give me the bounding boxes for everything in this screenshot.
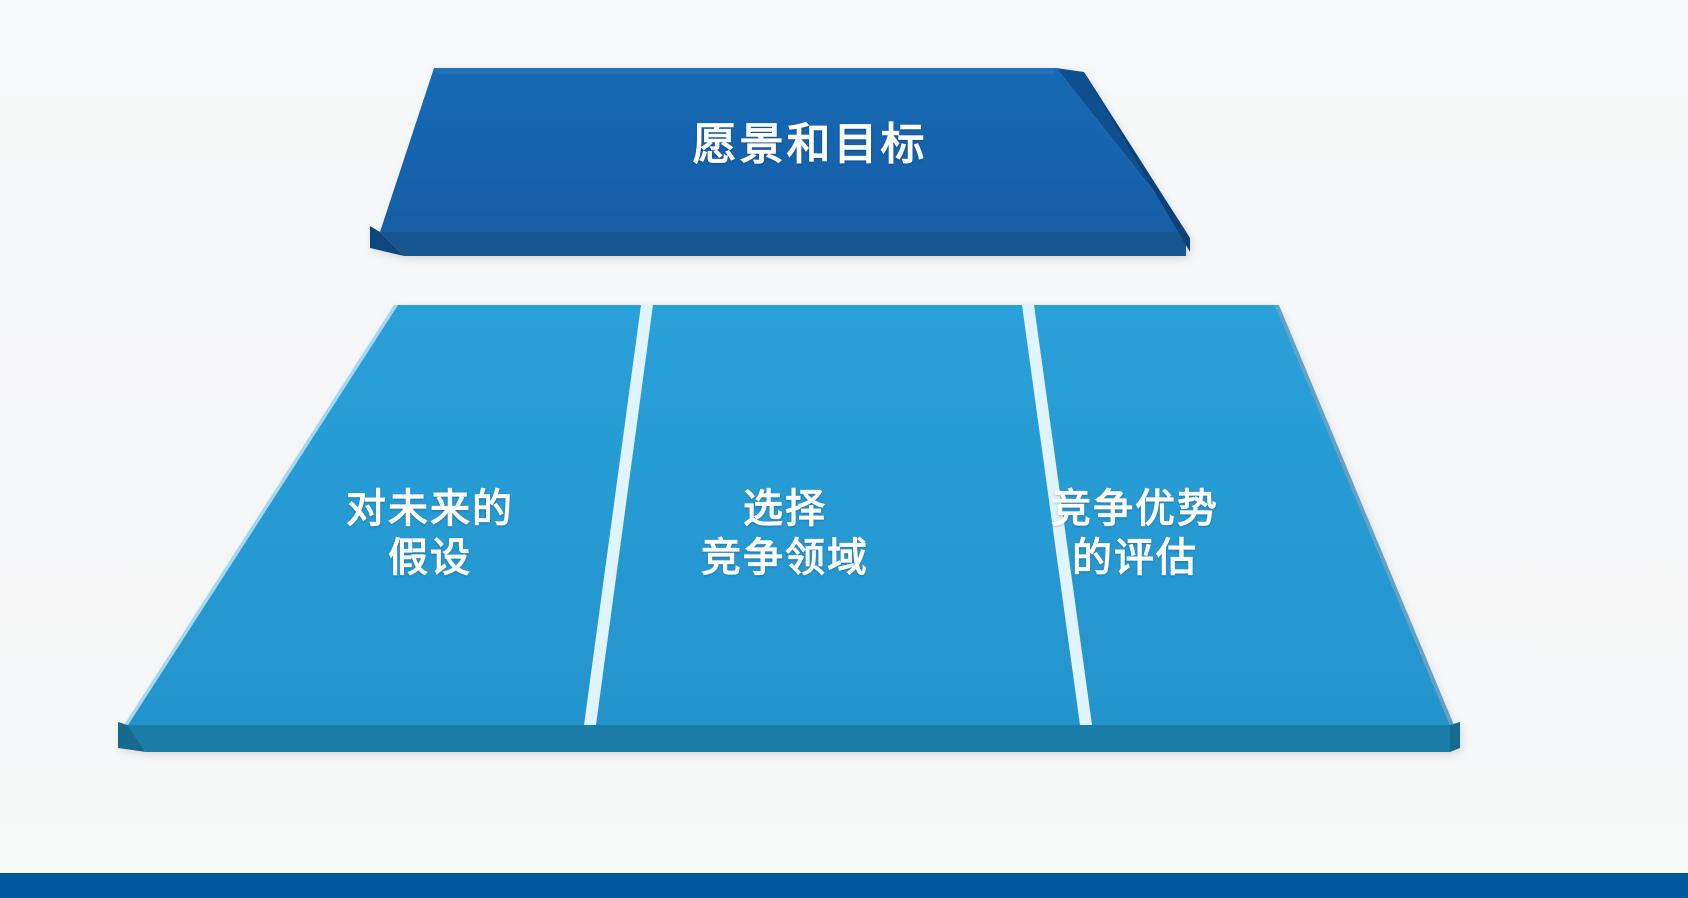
top-block-face[interactable] [380,68,1186,232]
slide-canvas: 愿景和目标 对未来的 假设 选择 竞争领域 竞争优势 的评估 [0,0,1688,898]
top-block-top-highlight [434,68,1056,74]
base-block-slab-right-cap [1450,722,1460,752]
base-block-face[interactable] [128,305,1450,725]
pyramid-diagram [0,0,1688,898]
base-block-slab [128,725,1450,752]
slide-accent-bar [0,873,1688,898]
base-block-group[interactable] [118,305,1460,752]
top-block-group[interactable] [370,68,1190,256]
top-block-base-slab [380,232,1186,256]
